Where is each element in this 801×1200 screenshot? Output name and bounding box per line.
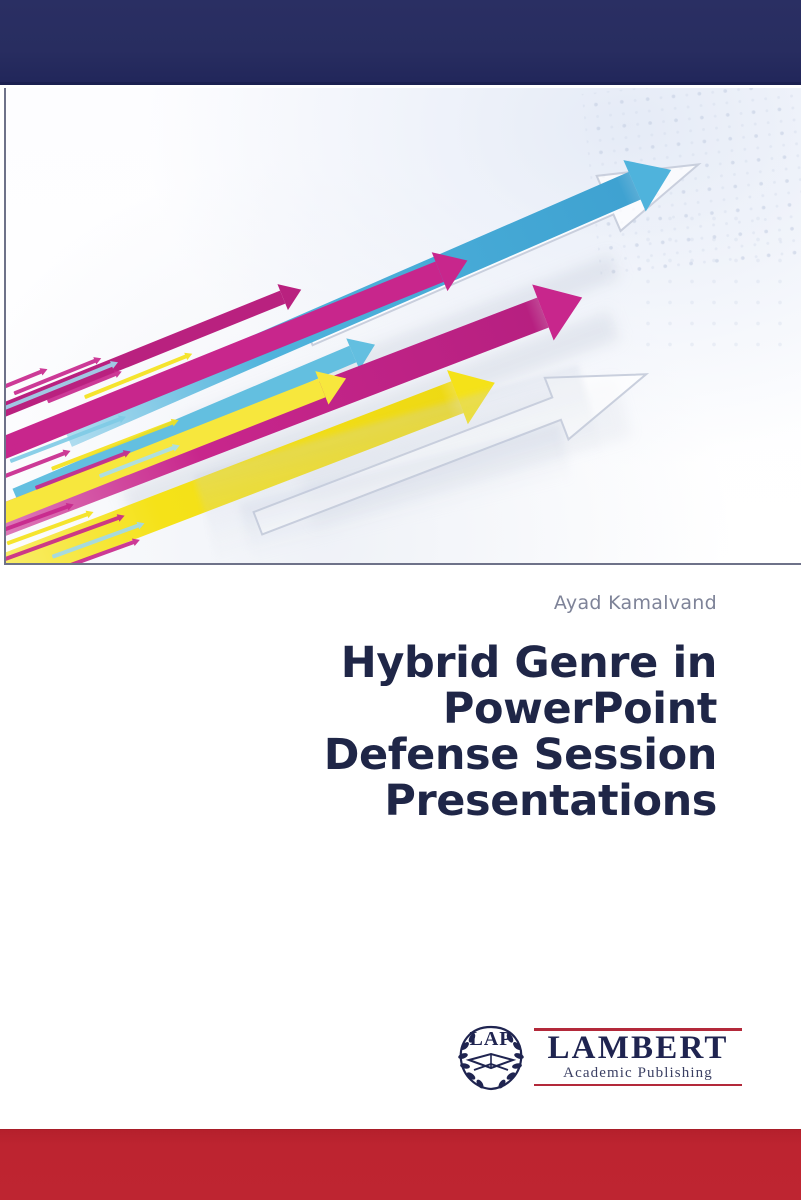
- title-line: Presentations: [77, 778, 717, 824]
- lambert-wordmark: LAMBERT Academic Publishing: [534, 1028, 742, 1086]
- title-line: Hybrid Genre in PowerPoint: [77, 640, 717, 732]
- top-band-edge: [0, 82, 801, 85]
- title-line: Defense Session: [77, 732, 717, 778]
- svg-text:LAP: LAP: [470, 1028, 513, 1050]
- publisher-tagline: Academic Publishing: [534, 1065, 742, 1082]
- book-title: Hybrid Genre in PowerPoint Defense Sessi…: [77, 640, 717, 824]
- dot-texture-secondary-icon: [637, 208, 787, 358]
- book-cover: Ayad Kamalvand Hybrid Genre in PowerPoin…: [0, 0, 801, 1200]
- publisher-name: LAMBERT: [534, 1032, 742, 1065]
- bottom-red-band: [0, 1130, 801, 1200]
- cover-artwork-panel: [4, 88, 801, 565]
- lap-emblem-icon: LAP: [452, 1018, 530, 1096]
- publisher-logo: LAP LAMBERT Academic Publishing: [452, 1014, 742, 1102]
- top-navy-band: [0, 0, 801, 84]
- logo-rule-bottom: [534, 1084, 742, 1086]
- author-name: Ayad Kamalvand: [554, 592, 717, 614]
